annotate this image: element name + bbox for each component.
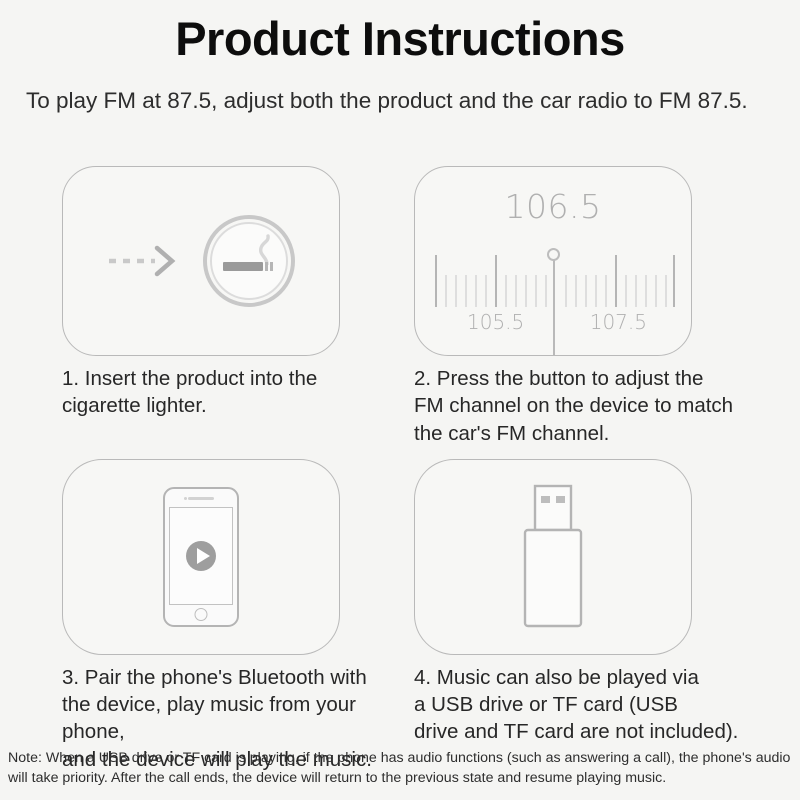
step-4-caption: 4. Music can also be played via a USB dr… [414, 664, 759, 746]
dial-tick [645, 275, 647, 307]
step-4-illustration-panel [414, 459, 692, 655]
dial-tick [535, 275, 537, 307]
cigarette-lighter-socket-icon [203, 215, 295, 307]
step-2-illustration-panel: 106.5 [414, 166, 692, 356]
smartphone-icon [163, 487, 239, 627]
cigarette-body [223, 262, 263, 271]
smoke-wisp-icon [255, 233, 277, 265]
fm-dial-label-low: 105.5 [467, 310, 524, 334]
dial-tick-major [615, 255, 617, 307]
phone-screen [169, 507, 233, 605]
dial-tick [625, 275, 627, 307]
step-4: 4. Music can also be played via a USB dr… [400, 447, 800, 773]
dashed-arrow-icon [107, 241, 185, 281]
page-title: Product Instructions [0, 0, 800, 63]
phone-home-button-icon [195, 608, 208, 621]
dial-tick [455, 275, 457, 307]
phone-scene [63, 460, 339, 654]
dial-tick [515, 275, 517, 307]
dial-tick [485, 275, 487, 307]
step-1-illustration-panel [62, 166, 340, 356]
usb-drive-icon [511, 482, 595, 632]
dial-tick [605, 275, 607, 307]
step-3: 3. Pair the phone's Bluetooth with the d… [0, 447, 400, 773]
instruction-page: Product Instructions To play FM at 87.5,… [0, 0, 800, 800]
footer-note: Note: When a USB drive or TF card is pla… [0, 748, 800, 788]
dial-tick-major [673, 255, 675, 307]
play-button-icon[interactable] [184, 539, 218, 573]
tuner-needle-knob[interactable] [547, 248, 560, 261]
dial-tick [665, 275, 667, 307]
fm-dial-ticks [433, 249, 675, 307]
dial-tick [565, 275, 567, 307]
dial-tick [445, 275, 447, 307]
cigarette-tip-1 [265, 262, 268, 271]
dial-tick [475, 275, 477, 307]
step-2: 106.5 [400, 166, 800, 447]
cigarette-tip-2 [270, 262, 273, 271]
dial-tick-major [435, 255, 437, 307]
dial-tick [575, 275, 577, 307]
intro-paragraph: To play FM at 87.5, adjust both the prod… [0, 63, 800, 116]
fm-dial-icon: 106.5 [415, 167, 691, 355]
step-1: 1. Insert the product into the cigarette… [0, 166, 400, 447]
dial-tick [505, 275, 507, 307]
steps-grid: 1. Insert the product into the cigarette… [0, 166, 800, 773]
step-2-caption: 2. Press the button to adjust the FM cha… [414, 365, 759, 447]
dial-tick [655, 275, 657, 307]
dial-tick [545, 275, 547, 307]
tuner-needle-icon[interactable] [553, 257, 555, 356]
phone-speaker-icon [188, 497, 214, 500]
dial-tick [465, 275, 467, 307]
dial-tick [635, 275, 637, 307]
fm-current-frequency: 106.5 [415, 187, 691, 226]
fm-dial-label-high: 107.5 [590, 310, 647, 334]
dial-tick [525, 275, 527, 307]
dial-tick-major [495, 255, 497, 307]
lighter-scene [63, 167, 339, 355]
phone-camera-icon [184, 497, 187, 500]
step-3-illustration-panel [62, 459, 340, 655]
step-1-caption: 1. Insert the product into the cigarette… [62, 365, 392, 420]
dial-tick [585, 275, 587, 307]
dial-tick [595, 275, 597, 307]
usb-scene [415, 460, 691, 654]
